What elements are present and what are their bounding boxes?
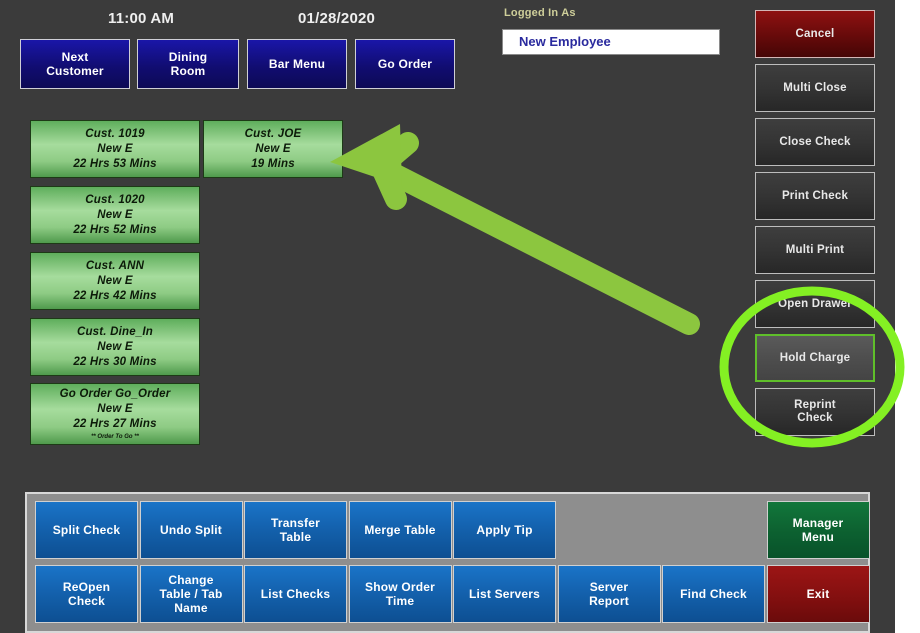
server-report-button[interactable]: ServerReport [558, 565, 661, 623]
split-check-button[interactable]: Split Check [35, 501, 138, 559]
check-tile[interactable]: Cust. ANNNew E22 Hrs 42 Mins [30, 252, 200, 310]
bar-menu-button[interactable]: Bar Menu [247, 39, 347, 89]
open-drawer-button[interactable]: Open Drawer [755, 280, 875, 328]
check-server: New E [255, 142, 291, 157]
header-time: 11:00 AM [108, 10, 174, 27]
change-table-tab-name-button[interactable]: ChangeTable / TabName [140, 565, 243, 623]
apply-tip-button[interactable]: Apply Tip [453, 501, 556, 559]
undo-split-button[interactable]: Undo Split [140, 501, 243, 559]
check-title: Cust. ANN [86, 259, 144, 274]
check-server: New E [97, 340, 133, 355]
check-elapsed: 22 Hrs 27 Mins [73, 417, 156, 432]
check-title: Cust. 1020 [85, 193, 145, 208]
check-title: Cust. JOE [245, 127, 302, 142]
check-title: Cust. Dine_In [77, 325, 153, 340]
next-customer-button[interactable]: NextCustomer [20, 39, 130, 89]
action-button-column: CancelMulti CloseClose CheckPrint CheckM… [755, 10, 875, 442]
logged-in-as-label: Logged In As [504, 7, 576, 19]
list-servers-button[interactable]: List Servers [453, 565, 556, 623]
hold-charge-button[interactable]: Hold Charge [755, 334, 875, 382]
check-tile[interactable]: Cust. JOENew E19 Mins [203, 120, 343, 178]
find-check-button[interactable]: Find Check [662, 565, 765, 623]
check-server: New E [97, 402, 133, 417]
reprint-check-button[interactable]: ReprintCheck [755, 388, 875, 436]
check-elapsed: 22 Hrs 42 Mins [73, 289, 156, 304]
logged-in-as-value: New Employee [519, 34, 611, 49]
check-elapsed: 22 Hrs 53 Mins [73, 157, 156, 172]
logged-in-as-field[interactable]: New Employee [502, 29, 720, 55]
transfer-table-button[interactable]: TransferTable [244, 501, 347, 559]
check-tile[interactable]: Go Order Go_OrderNew E22 Hrs 27 Mins** O… [30, 383, 200, 445]
dining-room-button[interactable]: DiningRoom [137, 39, 239, 89]
check-server: New E [97, 274, 133, 289]
go-order-button[interactable]: Go Order [355, 39, 455, 89]
exit-button[interactable]: Exit [767, 565, 870, 623]
close-check-button[interactable]: Close Check [755, 118, 875, 166]
print-check-button[interactable]: Print Check [755, 172, 875, 220]
show-order-time-button[interactable]: Show OrderTime [349, 565, 452, 623]
cancel-button[interactable]: Cancel [755, 10, 875, 58]
check-title: Cust. 1019 [85, 127, 145, 142]
check-elapsed: 19 Mins [251, 157, 295, 172]
check-tile[interactable]: Cust. 1020New E22 Hrs 52 Mins [30, 186, 200, 244]
check-note: ** Order To Go ** [91, 433, 139, 442]
manager-menu-button[interactable]: ManagerMenu [767, 501, 870, 559]
check-elapsed: 22 Hrs 30 Mins [73, 355, 156, 370]
check-server: New E [97, 142, 133, 157]
reopen-check-button[interactable]: ReOpenCheck [35, 565, 138, 623]
multi-print-button[interactable]: Multi Print [755, 226, 875, 274]
header-date: 01/28/2020 [298, 10, 375, 27]
pos-application-window: 11:00 AM 01/28/2020 Logged In As New Emp… [0, 0, 920, 633]
multi-close-button[interactable]: Multi Close [755, 64, 875, 112]
check-tile[interactable]: Cust. Dine_InNew E22 Hrs 30 Mins [30, 318, 200, 376]
function-toolbar: Split CheckUndo SplitTransferTableMerge … [25, 492, 870, 633]
check-title: Go Order Go_Order [60, 387, 171, 402]
pos-screen: 11:00 AM 01/28/2020 Logged In As New Emp… [0, 0, 895, 633]
list-checks-button[interactable]: List Checks [244, 565, 347, 623]
check-tile[interactable]: Cust. 1019New E22 Hrs 53 Mins [30, 120, 200, 178]
check-server: New E [97, 208, 133, 223]
check-elapsed: 22 Hrs 52 Mins [73, 223, 156, 238]
merge-table-button[interactable]: Merge Table [349, 501, 452, 559]
